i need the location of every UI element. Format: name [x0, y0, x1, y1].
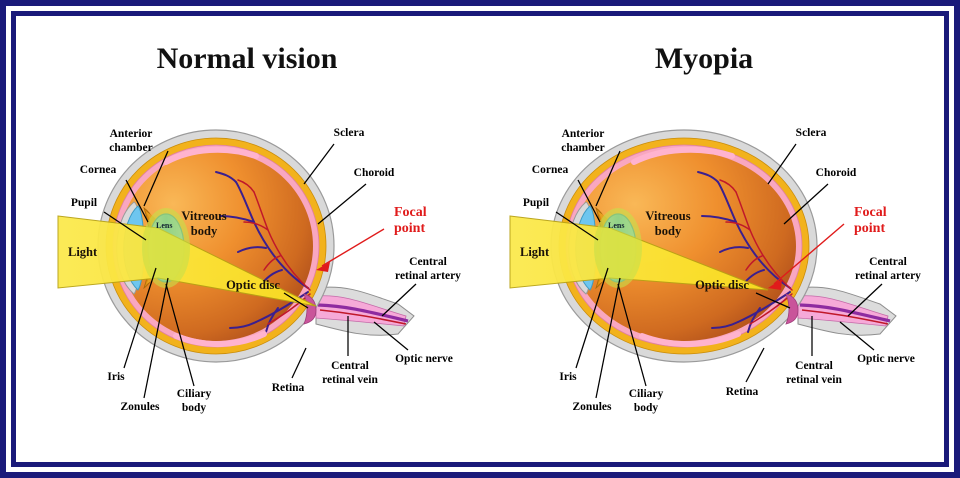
central-retinal-vein-label-normal: Central: [331, 360, 369, 372]
panel-title-normal: Normal vision: [157, 42, 338, 75]
central-retinal-artery-label-myopia: Central: [869, 256, 907, 268]
central-retinal-artery-label-normal: Central: [409, 256, 447, 268]
light-label-normal: Light: [68, 245, 98, 259]
cornea-label-normal: Cornea: [80, 164, 117, 176]
light-label-myopia: Light: [520, 245, 550, 259]
optic-disc-label-normal: Optic disc: [226, 278, 280, 292]
retina-leader-normal: [292, 348, 306, 378]
retina-leader-myopia: [746, 348, 764, 382]
diagram-canvas: Normal vision Myopia: [16, 16, 944, 462]
ciliary-body-label-normal-2: body: [182, 402, 207, 414]
focal-point-label-myopia-2: point: [854, 221, 885, 236]
choroid-label-normal: Choroid: [354, 167, 395, 179]
focal-point-label-normal: Focal: [394, 205, 427, 220]
pupil-label-normal: Pupil: [71, 197, 97, 209]
optic-disc-label-myopia: Optic disc: [695, 278, 749, 292]
sclera-label-normal: Sclera: [334, 127, 365, 139]
lens-label-normal: Lens: [156, 221, 172, 230]
iris-label-normal: Iris: [107, 371, 125, 383]
retina-label-myopia: Retina: [726, 386, 759, 398]
figure-border-outer: Normal vision Myopia: [0, 0, 960, 478]
lens-label-myopia: Lens: [608, 221, 624, 230]
anterior-chamber-label-myopia-2: chamber: [561, 142, 604, 154]
focal-point-label-normal-2: point: [394, 221, 425, 236]
optic-nerve-label-normal: Optic nerve: [395, 353, 453, 365]
light-through-lens-myopia: [594, 208, 642, 288]
central-retinal-vein-label-myopia-2: retinal vein: [786, 374, 842, 386]
vitreous-body-label-normal: Vitreous: [181, 209, 226, 223]
figure-border-inner: Normal vision Myopia: [11, 11, 949, 467]
anterior-chamber-label-normal: Anterior: [110, 128, 153, 140]
eye-diagram-myopia: Light Lens Vitreous body Optic disc Ante…: [510, 127, 921, 414]
cornea-label-myopia: Cornea: [532, 164, 569, 176]
optic-nerve-label-myopia: Optic nerve: [857, 353, 915, 365]
ciliary-body-label-normal: Ciliary: [177, 388, 212, 400]
iris-label-myopia: Iris: [559, 371, 577, 383]
central-retinal-vein-label-normal-2: retinal vein: [322, 374, 378, 386]
zonules-label-normal: Zonules: [121, 401, 161, 413]
eye-diagram-normal: Light Lens Vitreous body Optic disc Ante…: [58, 127, 461, 414]
choroid-label-myopia: Choroid: [816, 167, 857, 179]
retina-label-normal: Retina: [272, 382, 305, 394]
vitreous-body-label-myopia: Vitreous: [645, 209, 690, 223]
panel-title-myopia: Myopia: [655, 42, 753, 75]
focal-point-label-myopia: Focal: [854, 205, 887, 220]
ciliary-body-label-myopia: Ciliary: [629, 388, 664, 400]
anterior-chamber-label-normal-2: chamber: [109, 142, 152, 154]
vitreous-body-label-normal-2: body: [191, 224, 218, 238]
central-retinal-vein-label-myopia: Central: [795, 360, 833, 372]
central-retinal-artery-label-myopia-2: retinal artery: [855, 270, 921, 282]
central-retinal-artery-label-normal-2: retinal artery: [395, 270, 461, 282]
anterior-chamber-label-myopia: Anterior: [562, 128, 605, 140]
figure-border-gap: Normal vision Myopia: [6, 6, 954, 472]
vitreous-body-label-myopia-2: body: [655, 224, 682, 238]
pupil-label-myopia: Pupil: [523, 197, 549, 209]
sclera-label-myopia: Sclera: [796, 127, 827, 139]
sclera-leader-normal: [304, 144, 334, 184]
zonules-label-myopia: Zonules: [573, 401, 613, 413]
ciliary-body-label-myopia-2: body: [634, 402, 659, 414]
